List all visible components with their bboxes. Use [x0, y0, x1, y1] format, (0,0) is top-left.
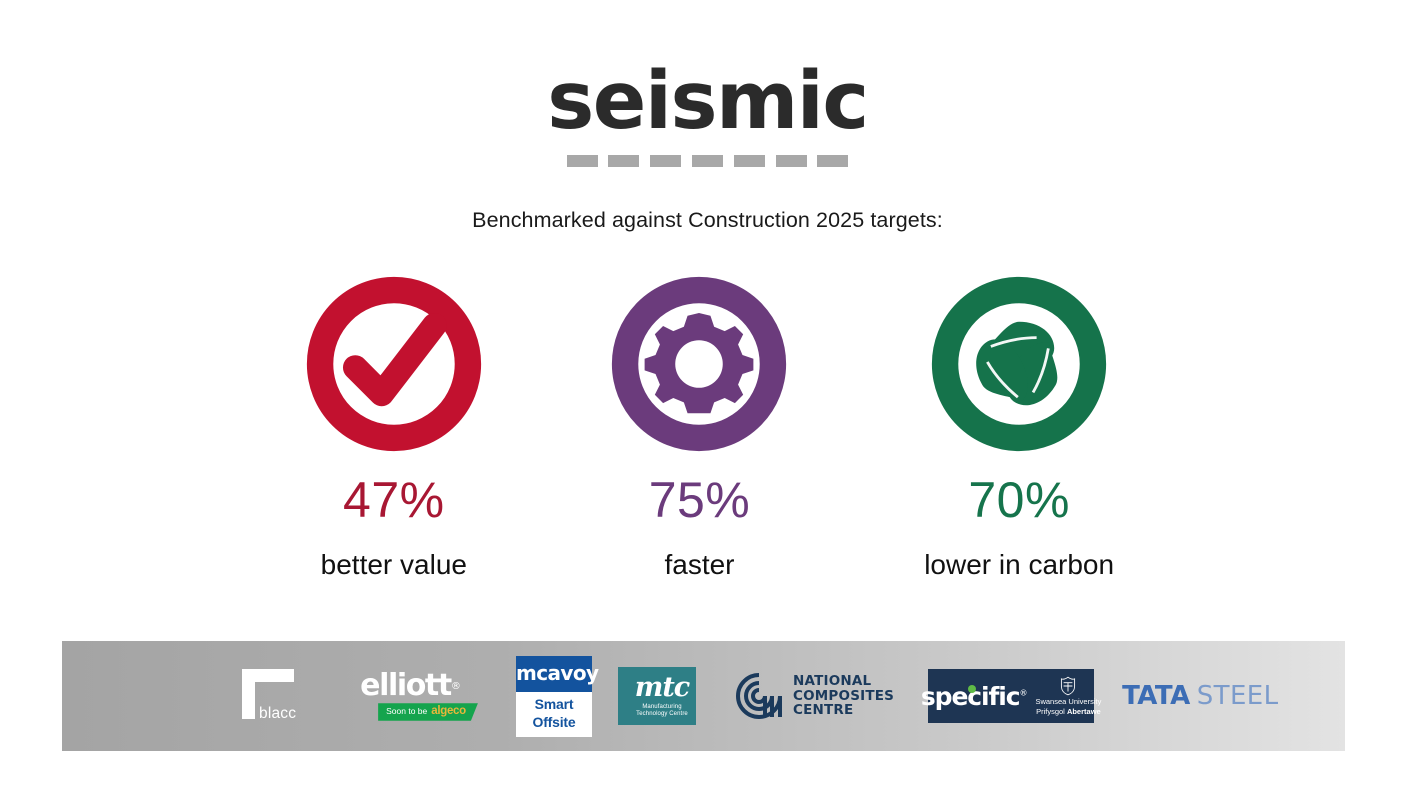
check-circle-icon — [306, 276, 482, 452]
specific-registered-mark: ® — [1019, 688, 1027, 697]
ncc-line-2: COMPOSITES — [793, 689, 894, 704]
stat-faster: 75% faster — [549, 276, 851, 579]
stat-value: 70% — [968, 475, 1070, 525]
partner-logo-mtc: mtc Manufacturing Technology Centre — [618, 667, 696, 725]
brand-dash — [567, 155, 598, 167]
stat-label: lower in carbon — [924, 551, 1114, 579]
subtitle: Benchmarked against Construction 2025 ta… — [0, 208, 1415, 233]
elliott-registered-mark: ® — [451, 682, 461, 692]
elliott-wordmark: elliott — [360, 671, 451, 701]
swansea-name-welsh: Prifysgol Abertawe — [1036, 708, 1101, 717]
seismic-logo: seismic — [0, 62, 1415, 167]
stat-label: better value — [321, 551, 467, 579]
partner-logo-elliott: elliott® Soon to be algeco — [364, 671, 474, 721]
mcavoy-wordmark: mcavoy — [516, 661, 598, 685]
swansea-welsh-bold: Abertawe — [1067, 707, 1101, 716]
mcavoy-tagline-area: Smart Offsite — [516, 692, 592, 737]
partner-logo-specific: specific® Swansea University Prifysgol A… — [928, 669, 1094, 723]
blacc-wordmark: blacc — [259, 706, 296, 722]
mtc-subtitle-line2: Technology Centre — [636, 711, 688, 719]
partner-logo-mcavoy: mcavoy Smart Offsite — [516, 656, 592, 737]
ncc-line-1: NATIONAL — [793, 674, 894, 689]
specific-wordmark: specific® — [921, 684, 1028, 709]
brand-dash — [817, 155, 848, 167]
brand-dash-row — [567, 155, 849, 167]
ncc-wordmark: NATIONAL COMPOSITES CENTRE — [793, 674, 894, 718]
partner-logo-tata-steel: TATA STEEL — [1122, 683, 1278, 709]
brand-dash — [650, 155, 681, 167]
swansea-university-lockup: Swansea University Prifysgol Abertawe — [1035, 675, 1101, 716]
gear-circle-icon — [611, 276, 787, 452]
brand-dash — [776, 155, 807, 167]
elliott-rebrand-banner: Soon to be algeco — [378, 703, 478, 721]
partner-logo-blacc: blacc — [238, 667, 308, 725]
swansea-welsh-prefix: Prifysgol — [1036, 707, 1067, 716]
stat-better-value: 47% better value — [243, 276, 545, 579]
recycle-leaves-circle-icon — [931, 276, 1107, 452]
stats-row: 47% better value 75% faster — [255, 276, 1160, 579]
brand-wordmark: seismic — [547, 62, 867, 141]
stat-lower-carbon: 70% lower in carbon — [868, 276, 1170, 579]
mtc-subtitle-line1: Manufacturing — [642, 704, 681, 712]
specific-green-dot-icon — [968, 685, 976, 693]
steel-wordmark: STEEL — [1197, 683, 1279, 709]
swansea-name-english: Swansea University — [1035, 698, 1101, 707]
ncc-line-3: CENTRE — [793, 703, 894, 718]
ncc-spiral-icon — [734, 671, 784, 721]
partner-logo-national-composites-centre: NATIONAL COMPOSITES CENTRE — [734, 671, 894, 721]
swansea-crest-icon — [1057, 675, 1079, 697]
mtc-wordmark: mtc — [635, 674, 689, 701]
mcavoy-tagline: Smart Offsite — [533, 696, 576, 730]
algeco-wordmark: algeco — [431, 706, 466, 718]
brand-dash — [734, 155, 765, 167]
stat-value: 75% — [649, 475, 751, 525]
elliott-soon-to-be-text: Soon to be — [386, 707, 427, 716]
slide-canvas: seismic Benchmarked against Construction… — [0, 0, 1415, 810]
brand-dash — [608, 155, 639, 167]
partner-logo-list: blacc elliott® Soon to be algeco mcavoy — [238, 656, 1279, 737]
stat-label: faster — [664, 551, 734, 579]
tata-wordmark: TATA — [1122, 683, 1190, 709]
stat-value: 47% — [343, 475, 445, 525]
mcavoy-badge: mcavoy — [516, 656, 592, 692]
partner-logo-bar: blacc elliott® Soon to be algeco mcavoy — [62, 641, 1345, 751]
brand-dash — [692, 155, 723, 167]
